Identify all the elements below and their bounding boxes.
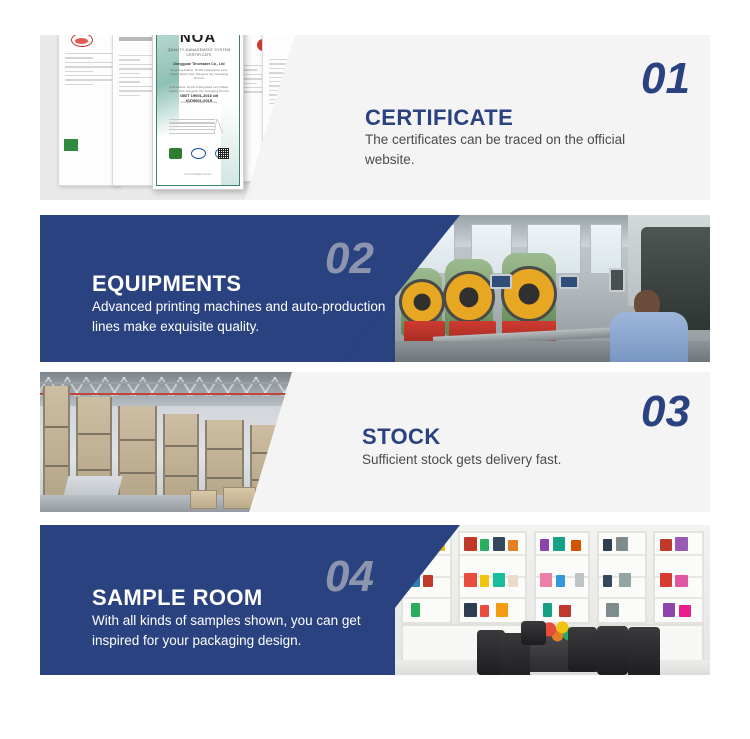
sample-box [660,539,673,551]
worker-body [610,312,688,362]
panel-body-equipments: Advanced printing machines and auto-prod… [92,297,402,336]
panel-heading-sample-room: SAMPLE ROOM [92,587,263,609]
sample-box [559,605,572,617]
certificate-page-left-1 [58,35,120,186]
certificate-title: QUALITY MANAGEMENT SYSTEM CERTIFICATE [167,48,231,59]
green-mark-icon [64,139,78,151]
sample-box [663,603,676,617]
panel-body-certificate: The certificates can be traced on the of… [365,130,665,169]
sample-box [675,575,688,587]
sample-box [423,575,432,587]
panel-heading-equipments: EQUIPMENTS [92,273,241,295]
certificate-organization: Dongguan Tinomaker Co., Ltd [167,62,231,66]
red-seal-icon [71,35,93,47]
sample-box [660,573,673,587]
certificate-border-frame: NOA QUALITY MANAGEMENT SYSTEM CERTIFICAT… [156,35,240,186]
control-panel-box [559,275,579,289]
certificate-header-bar [119,37,155,41]
sample-box [496,603,509,617]
sample-box [464,573,477,587]
panel-heading-stock: STOCK [362,426,441,448]
panel-number-04: 04 [325,555,374,599]
certificate-address-line1: Registered Address: No.100 Linjiang Road… [170,69,228,80]
panel-heading-certificate: CERTIFICATE [365,107,513,129]
panel-number-01: 01 [641,57,690,101]
panel-stock: 03 STOCK Sufficient stock gets delivery … [40,372,710,512]
sample-box [540,539,549,551]
sample-box [675,537,688,551]
certificate-address: Registered Address: No.100 Linjiang Road… [167,69,231,94]
sample-box [493,537,506,551]
sample-box [603,575,612,587]
sample-box [606,603,619,617]
sample-box [508,575,517,587]
certificate-address-line2: Audit Address: No.100 Linjiang Road, Lan… [169,86,229,93]
sample-box [619,573,632,587]
qr-code-icon [218,148,229,159]
company-advantages-board: NOA QUALITY MANAGEMENT SYSTEM CERTIFICAT… [0,0,750,739]
panel-equipments: 02 EQUIPMENTS Advanced printing machines… [40,215,710,362]
certificate-text-lines [65,53,113,88]
panel-number-02: 02 [325,237,374,281]
sample-box [480,605,489,617]
badge-green-icon [169,148,182,159]
panel-sample-room: 04 SAMPLE ROOM With all kinds of samples… [40,525,710,675]
badge-anab-icon [191,148,206,159]
sample-box [464,603,477,617]
press-flywheel-icon [443,271,495,323]
sample-box [540,573,553,587]
office-chair [597,626,629,676]
sample-box [480,539,489,551]
warehouse-rack [118,406,157,507]
sample-box [556,575,565,587]
control-panel-box [609,268,625,292]
signature-icon [205,119,231,133]
sample-box [553,537,566,551]
panel-body-stock: Sufficient stock gets delivery fast. [362,450,662,470]
sample-box [480,575,489,587]
sample-box [543,603,552,617]
press-flywheel-icon [399,279,445,325]
office-chair [521,621,546,645]
panel-number-03: 03 [641,390,690,434]
factory-window [590,224,622,274]
sample-box [493,573,506,587]
sample-box [603,539,612,551]
certificate-footer: NOA Certification Service [165,173,231,177]
office-chair [568,627,596,672]
sample-box [411,603,420,617]
sample-box [616,537,629,551]
certificate-text-lines [119,55,155,99]
certificate-main-document: NOA QUALITY MANAGEMENT SYSTEM CERTIFICAT… [152,35,244,190]
panel-body-sample-room: With all kinds of samples shown, you can… [92,611,392,650]
warehouse-pallet [190,490,217,510]
panel-certificate: NOA QUALITY MANAGEMENT SYSTEM CERTIFICAT… [40,35,710,200]
certificate-title-line2: CERTIFICATE [186,53,211,57]
sample-box [508,540,517,551]
sample-box [571,540,580,551]
noa-logo: NOA [157,35,239,46]
certificate-scope: Production of tins cans and boxes [167,101,231,105]
sample-box [464,537,477,551]
certificate-title-line1: QUALITY MANAGEMENT SYSTEM [168,48,231,52]
office-chair [628,627,660,675]
sample-box [679,605,692,617]
control-panel-box [490,274,512,289]
sample-box [575,573,584,587]
